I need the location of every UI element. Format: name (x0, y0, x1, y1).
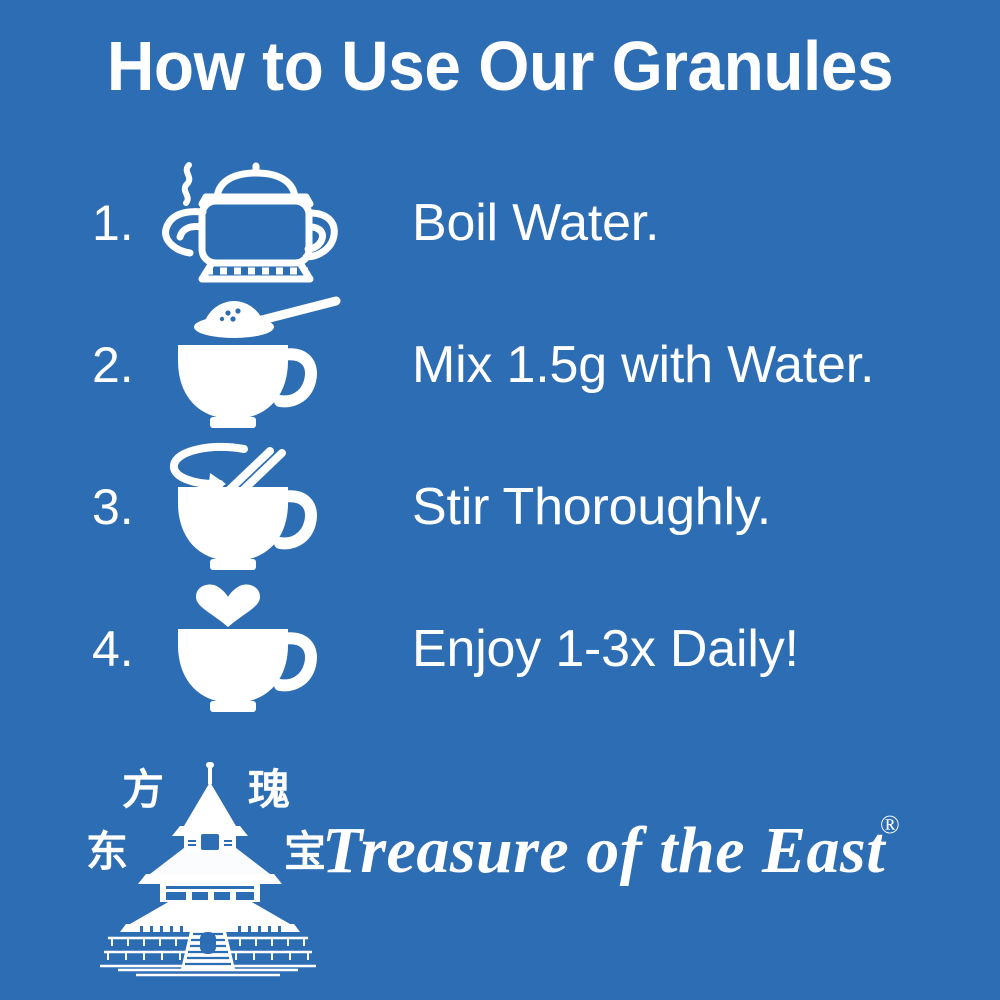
step-label: Enjoy 1-3x Daily! (412, 619, 799, 679)
list-item: 4. Enjoy 1-3x Daily! (0, 578, 1000, 720)
brand-wordmark: Treasure of the East (322, 814, 885, 888)
step-number: 1. (92, 195, 162, 251)
cup-with-stirring-spoon-icon (160, 441, 340, 573)
step-number: 4. (92, 621, 162, 677)
page-title: How to Use Our Granules (30, 26, 970, 106)
step-number: 3. (92, 479, 162, 535)
teapot-icon (160, 157, 340, 289)
step-number: 2. (92, 337, 162, 393)
step-label: Stir Thoroughly. (412, 477, 771, 537)
logo-char-bottom-right: 宝 (284, 827, 326, 876)
instructions-poster: How to Use Our Granules 1. (0, 0, 1000, 1000)
steps-list: 1. (0, 152, 1000, 720)
list-item: 1. (0, 152, 1000, 294)
logo-char-top-right: 瑰 (248, 765, 290, 814)
step-label: Mix 1.5g with Water. (412, 335, 874, 395)
temple-of-heaven-logo-icon: 方 瑰 东 宝 (88, 756, 328, 978)
cup-with-spoon-of-granules-icon (160, 299, 340, 431)
list-item: 3. Stir Thoroughly. (0, 436, 1000, 578)
cup-with-heart-icon (160, 583, 340, 715)
step-label: Boil Water. (412, 193, 659, 253)
registered-trademark-icon: ® (880, 812, 900, 838)
list-item: 2. (0, 294, 1000, 436)
logo-char-top-left: 方 (122, 765, 164, 814)
brand-footer: 方 瑰 东 宝 Treasure of the East ® (0, 756, 1000, 986)
logo-char-bottom-left: 东 (86, 827, 128, 876)
